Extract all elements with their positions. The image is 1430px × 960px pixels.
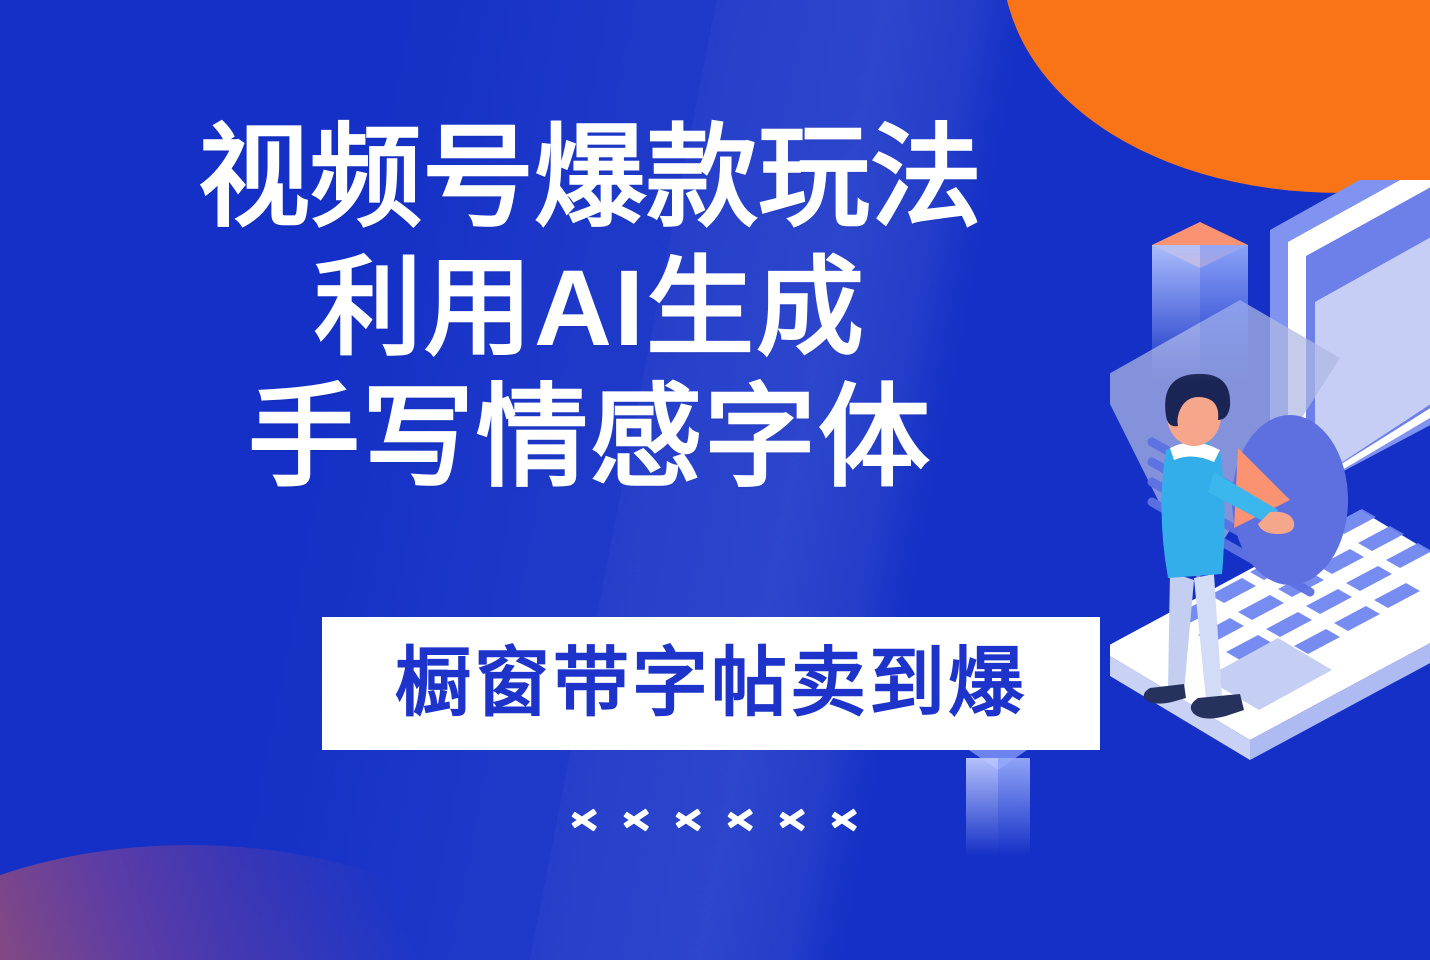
headline-line-1: 视频号爆款玩法 <box>0 112 1180 244</box>
poster-canvas: 视频号爆款玩法 利用AI生成 手写情感字体 橱窗带字帖卖到爆 <box>0 0 1430 960</box>
subtitle-banner: 橱窗带字帖卖到爆 <box>322 617 1100 750</box>
chevron-right-icon <box>674 795 704 839</box>
chevron-right-icon <box>778 795 808 839</box>
chevron-right-icon <box>726 795 756 839</box>
headline-line-3: 手写情感字体 <box>0 372 1180 504</box>
headline-line-2: 利用AI生成 <box>0 244 1180 371</box>
chevron-right-icon <box>622 795 652 839</box>
chevron-right-icon <box>570 795 600 839</box>
subtitle-banner-text: 橱窗带字帖卖到爆 <box>395 646 1027 722</box>
headline-block: 视频号爆款玩法 利用AI生成 手写情感字体 <box>0 112 1180 504</box>
chevron-arrow-row <box>0 795 1430 839</box>
iso-bar-right-face <box>1200 245 1248 382</box>
chevron-right-icon <box>830 795 860 839</box>
